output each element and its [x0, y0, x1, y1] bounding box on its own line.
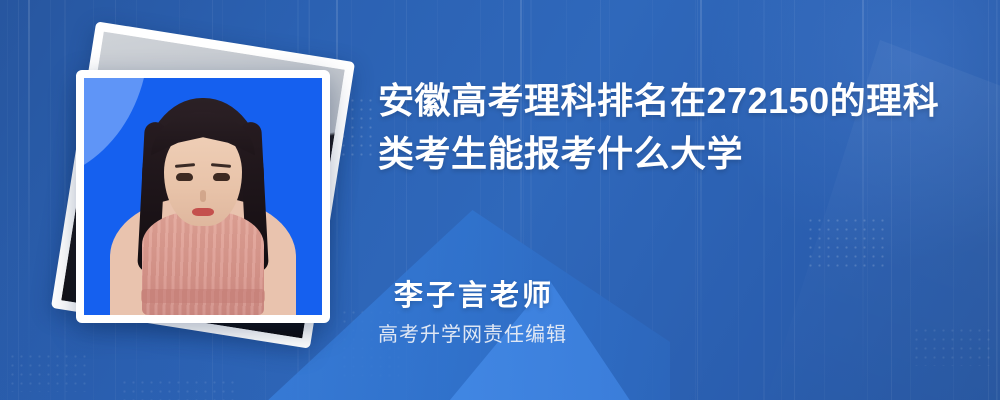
- portrait-nose: [200, 190, 206, 202]
- teacher-portrait-image: [84, 78, 322, 315]
- portrait-dress-waistband: [141, 289, 265, 303]
- author-role: 高考升学网责任编辑: [378, 318, 567, 347]
- portrait-mouth: [192, 208, 214, 216]
- article-header-banner: 安徽高考理科排名在272150的理科类考生能报考什么大学 李子言老师 高考升学网…: [0, 0, 1000, 400]
- article-title: 安徽高考理科排名在272150的理科类考生能报考什么大学: [378, 74, 958, 181]
- photo-card-front: [76, 70, 330, 323]
- banner-text-content: 安徽高考理科排名在272150的理科类考生能报考什么大学 李子言老师 高考升学网…: [378, 0, 976, 400]
- portrait-eye-right: [213, 173, 230, 181]
- portrait-eye-left: [176, 173, 193, 181]
- author-name: 李子言老师: [394, 272, 554, 314]
- photo-stack: [46, 26, 366, 356]
